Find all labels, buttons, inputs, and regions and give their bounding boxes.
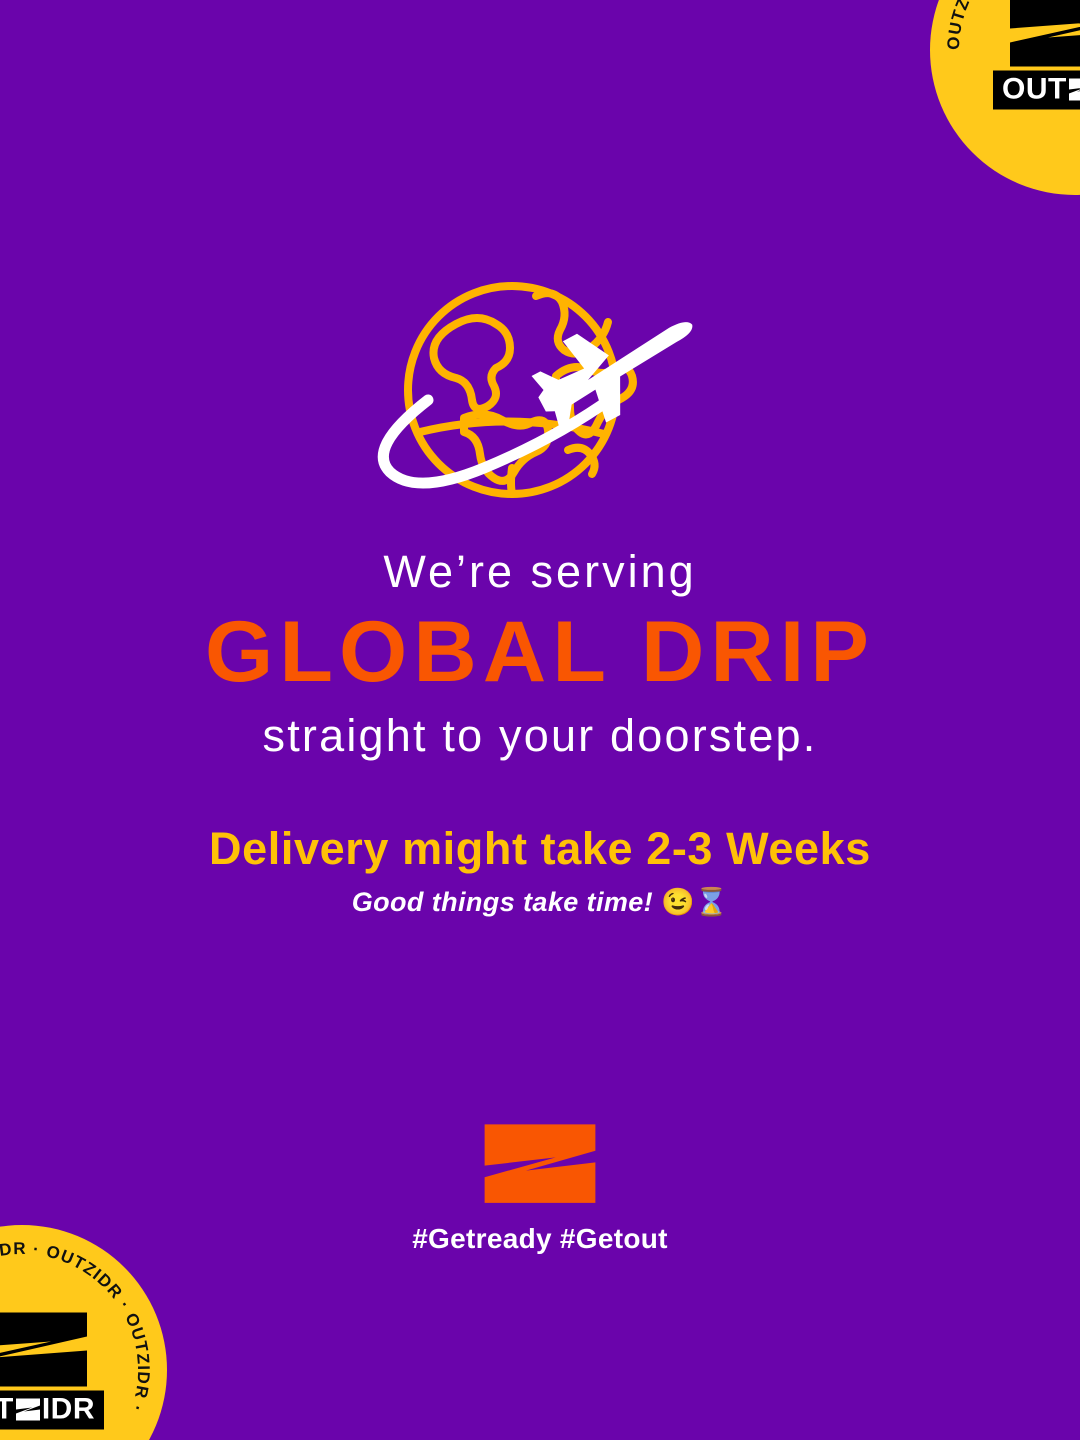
footer-hashtags: #Getready #Getout bbox=[412, 1223, 668, 1255]
badge-word-suffix-bl: IDR bbox=[42, 1395, 95, 1425]
outzidr-z-glyph-icon bbox=[1068, 79, 1080, 101]
badge-core-bottom-left: OUT IDR bbox=[0, 1311, 108, 1430]
outzidr-z-icon bbox=[0, 1311, 97, 1389]
badge-wordmark-top-right: OUT IDR bbox=[1002, 75, 1080, 105]
headline-line-1: We’re serving bbox=[0, 548, 1080, 597]
badge-wordmark-box-top-right: OUT IDR bbox=[993, 71, 1080, 110]
badge-core-top-right: OUT IDR bbox=[989, 0, 1080, 110]
promo-poster: OUTZIDR · OUTZIDR · OUTZIDR · OUTZIDR · … bbox=[0, 0, 1080, 1440]
delivery-subtext: Good things take time! 😉⌛ bbox=[0, 886, 1080, 918]
outzidr-badge-bottom-left: OUTZIDR · OUTZIDR · OUTZIDR · OUTZIDR · … bbox=[0, 1225, 167, 1440]
outzidr-badge-top-right: OUTZIDR · OUTZIDR · OUTZIDR · OUTZIDR · … bbox=[930, 0, 1080, 195]
badge-wordmark-bottom-left: OUT IDR bbox=[0, 1395, 95, 1425]
delivery-headline: Delivery might take 2-3 Weeks bbox=[0, 824, 1080, 874]
headline-line-3: straight to your doorstep. bbox=[0, 711, 1080, 761]
headline-block: We’re serving GLOBAL DRIP straight to yo… bbox=[0, 548, 1080, 760]
delivery-emoji: 😉⌛ bbox=[661, 887, 728, 917]
headline-line-2: GLOBAL DRIP bbox=[0, 609, 1080, 695]
outzidr-z-logo-icon bbox=[478, 1122, 602, 1206]
delivery-notice-block: Delivery might take 2-3 Weeks Good thing… bbox=[0, 824, 1080, 918]
globe-airplane-illustration bbox=[360, 272, 720, 512]
badge-word-prefix-bl: OUT bbox=[0, 1395, 14, 1425]
outzidr-z-icon bbox=[1000, 0, 1080, 69]
badge-wordmark-box-bottom-left: OUT IDR bbox=[0, 1391, 104, 1430]
outzidr-z-glyph-icon bbox=[15, 1399, 41, 1421]
delivery-subtext-label: Good things take time! bbox=[352, 887, 653, 917]
badge-word-prefix-tr: OUT bbox=[1002, 75, 1067, 105]
